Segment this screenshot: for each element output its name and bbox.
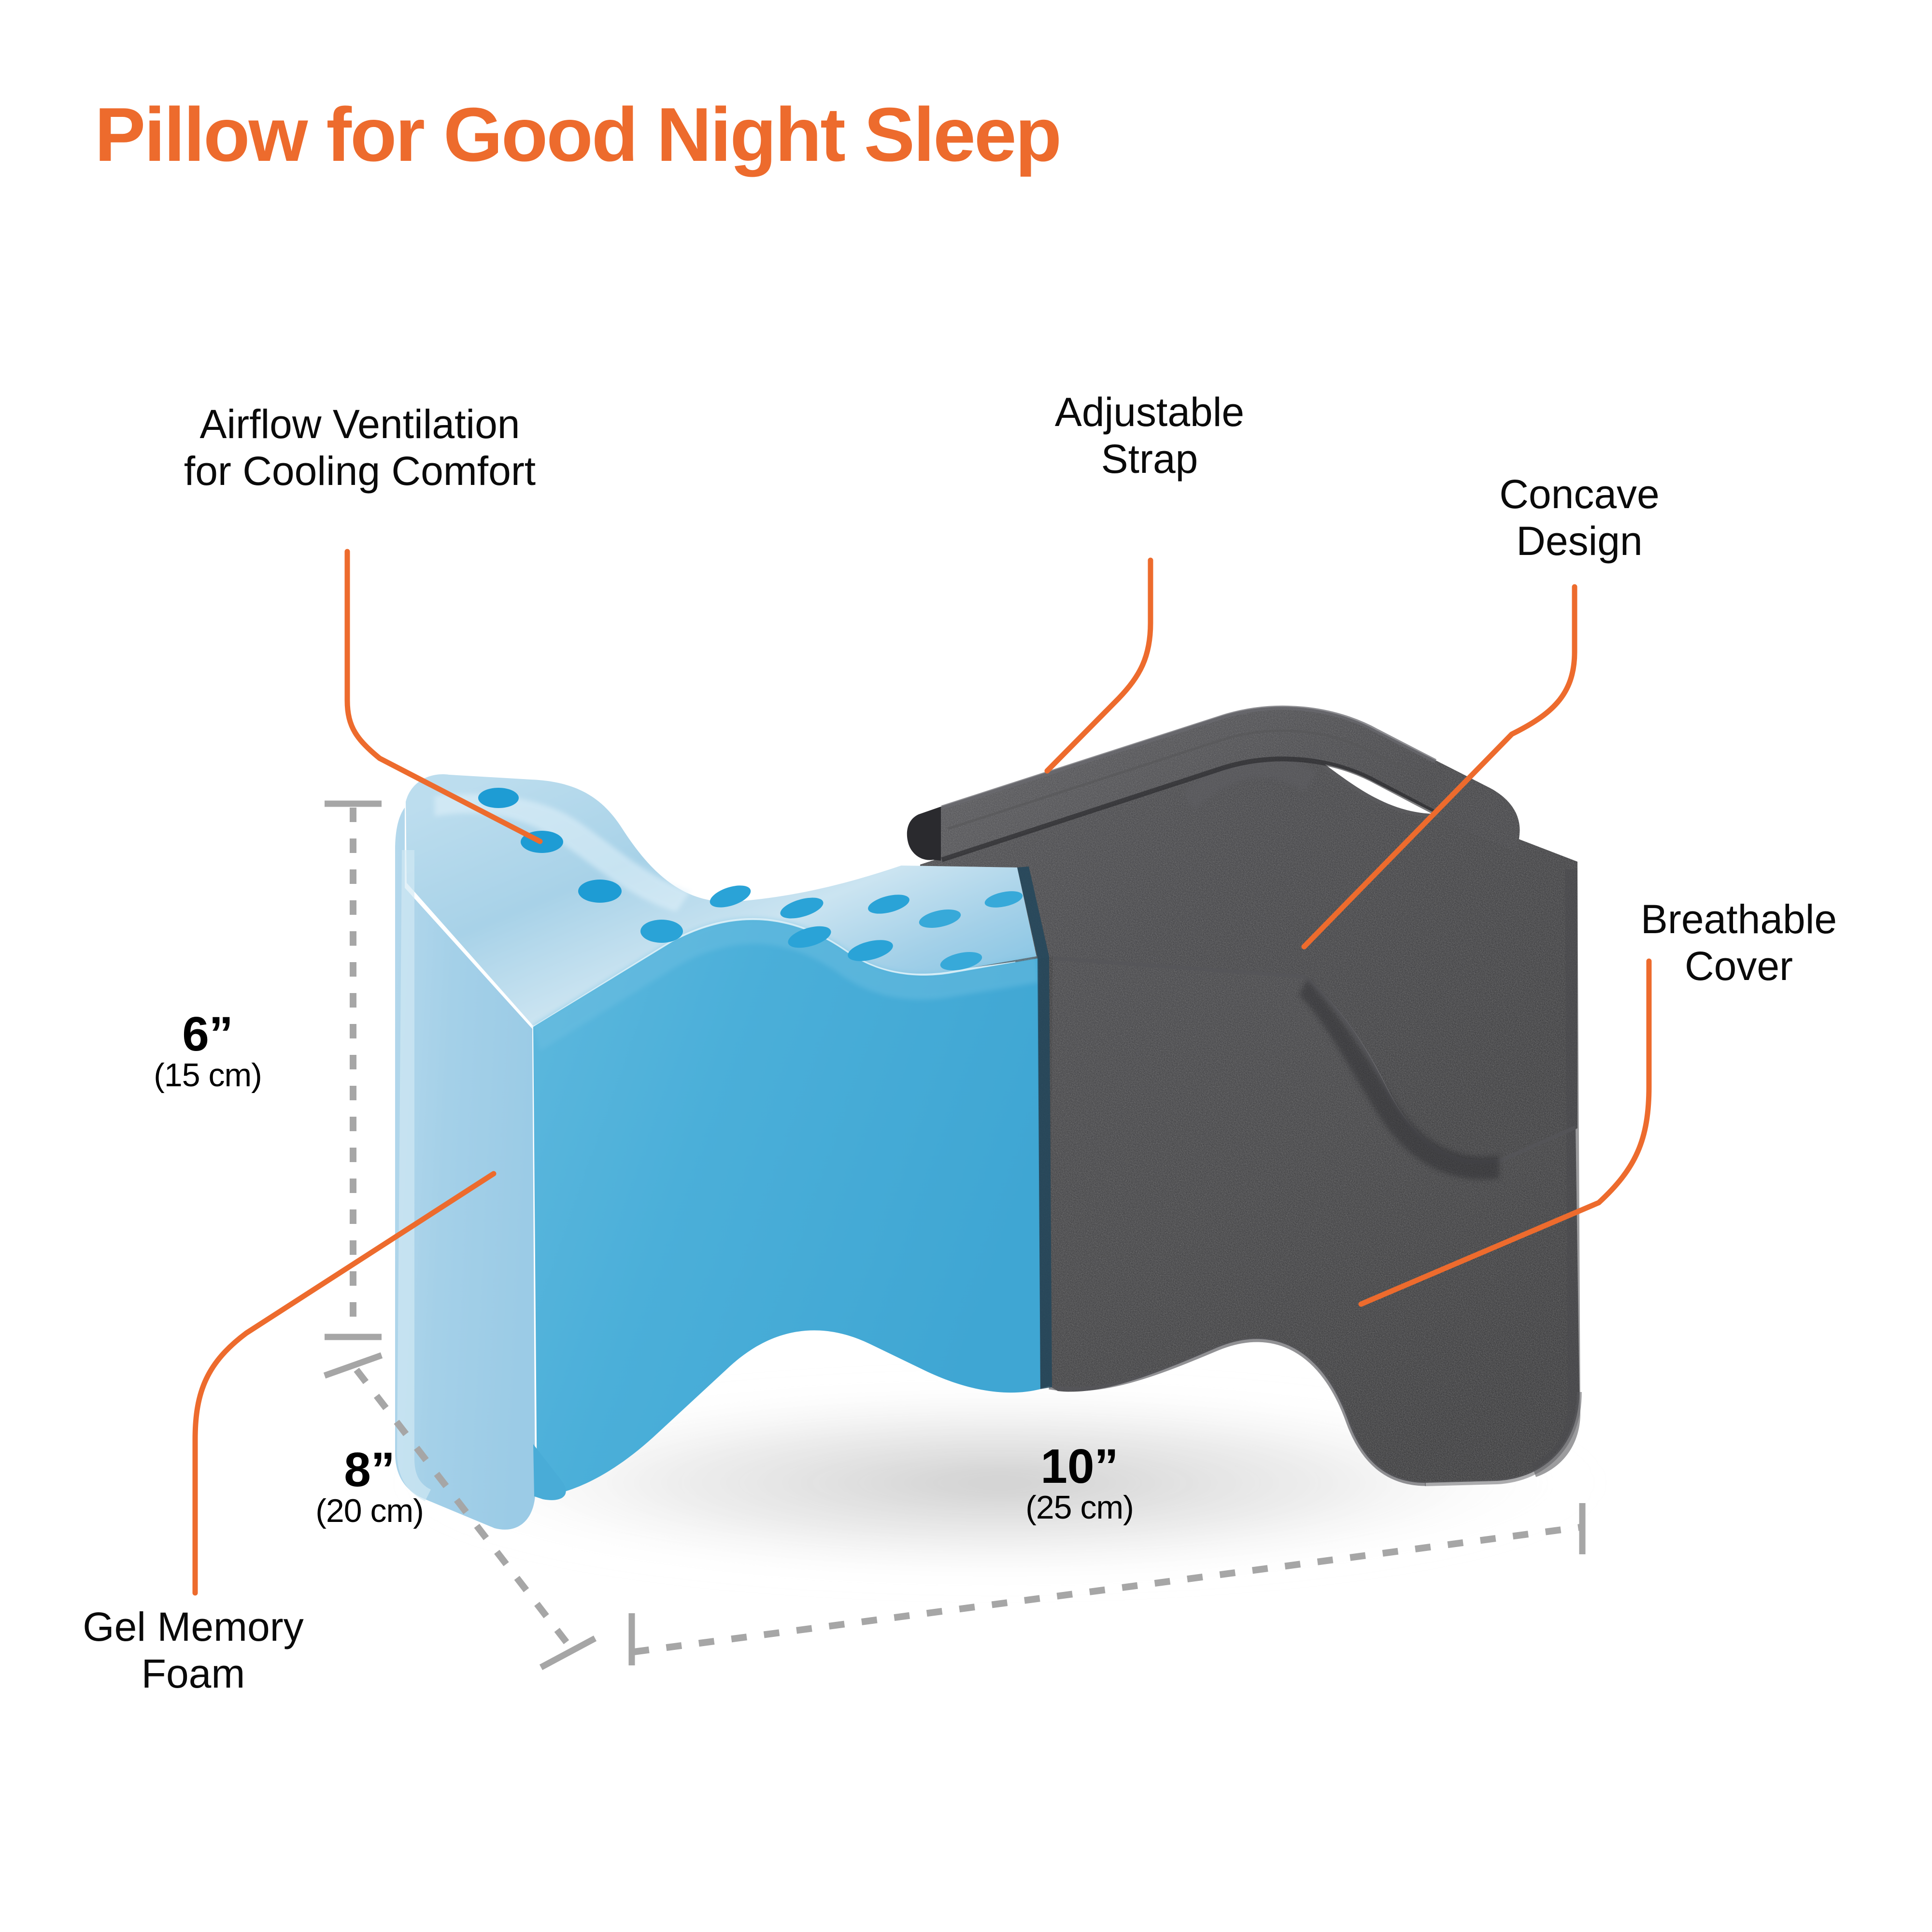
foam-front-face <box>533 920 1040 1497</box>
vent-hole <box>578 880 622 903</box>
cover-hump-highlight <box>1183 754 1317 810</box>
dimension-depth-imperial: 8” <box>273 1445 466 1494</box>
dim-depth-cap-bottom <box>541 1638 595 1667</box>
callout-concave-design: Concave Design <box>1439 471 1719 565</box>
dimension-height: 6” (15 cm) <box>121 1009 295 1092</box>
cover-left-slab <box>1014 869 1053 1389</box>
leader-breathable <box>1361 961 1649 1304</box>
dim-depth-cap-top <box>325 1355 382 1376</box>
dimension-width: 10” (25 cm) <box>983 1442 1176 1524</box>
dimension-width-metric: (25 cm) <box>983 1491 1176 1524</box>
cover-seam-front <box>1054 958 1576 1162</box>
foam-left-face <box>395 808 535 1530</box>
infographic-canvas: Pillow for Good Night Sleep Airflow Vent… <box>0 0 1932 1932</box>
cover-bottom-rim <box>1425 1392 1579 1484</box>
cover-top-face <box>920 739 1577 1162</box>
cover-body <box>1048 955 1579 1483</box>
cover-front-face <box>948 938 1304 994</box>
cover-concave-shade <box>1299 980 1499 1179</box>
dimension-height-metric: (15 cm) <box>121 1059 295 1092</box>
adjustable-strap <box>907 707 1520 861</box>
strap-band <box>941 707 1437 861</box>
foam-left-highlight <box>397 850 431 1501</box>
dim-width-line <box>634 1527 1580 1652</box>
vent-hole <box>521 831 563 853</box>
foam-cover-seam <box>1017 867 1052 1389</box>
dimension-height-imperial: 6” <box>121 1009 295 1059</box>
vent-hole <box>478 788 519 808</box>
vent-hole <box>640 920 683 943</box>
vent-hole <box>866 891 911 917</box>
vent-hole <box>983 888 1024 910</box>
vent-hole <box>707 881 753 911</box>
gel-memory-foam <box>395 774 1052 1530</box>
vent-hole <box>917 906 962 931</box>
leader-concave <box>1304 587 1575 947</box>
callout-adjustable-strap: Adjustable Strap <box>995 389 1304 483</box>
leader-gel-foam <box>195 1174 494 1593</box>
page-title: Pillow for Good Night Sleep <box>95 97 1060 173</box>
callout-breathable-cover: Breathable Cover <box>1584 896 1893 990</box>
vent-hole <box>778 894 825 923</box>
callout-airflow-ventilation: Airflow Ventilation for Cooling Comfort <box>97 401 623 495</box>
leader-lines <box>195 552 1649 1593</box>
dimension-lines <box>325 804 1582 1667</box>
foam-top-surface <box>406 774 1037 1026</box>
dimension-width-imperial: 10” <box>983 1442 1176 1491</box>
vent-hole <box>846 936 895 965</box>
vent-hole <box>938 949 983 974</box>
cover-right-edge-highlight <box>1531 869 1580 1477</box>
vent-holes <box>478 788 1024 974</box>
strap-right-wrap <box>1437 761 1520 852</box>
dimension-depth: 8” (20 cm) <box>273 1445 466 1528</box>
breathable-cover <box>920 739 1580 1484</box>
dimension-depth-metric: (20 cm) <box>273 1494 466 1528</box>
leader-strap <box>1047 560 1151 771</box>
foam-front-bottom-corner <box>533 1444 566 1500</box>
strap-top-highlight <box>942 708 1435 808</box>
leader-airflow <box>347 552 540 841</box>
callout-gel-memory-foam: Gel Memory Foam <box>14 1604 372 1698</box>
foam-top-sheen <box>435 794 691 912</box>
strap-bottom-shadow <box>942 759 1436 860</box>
strap-stitch <box>948 731 1432 829</box>
strap-end-tip <box>907 807 941 861</box>
cover-seam-top <box>1158 742 1452 816</box>
foam-crease-shade <box>533 918 1038 1051</box>
vent-hole <box>786 922 834 952</box>
